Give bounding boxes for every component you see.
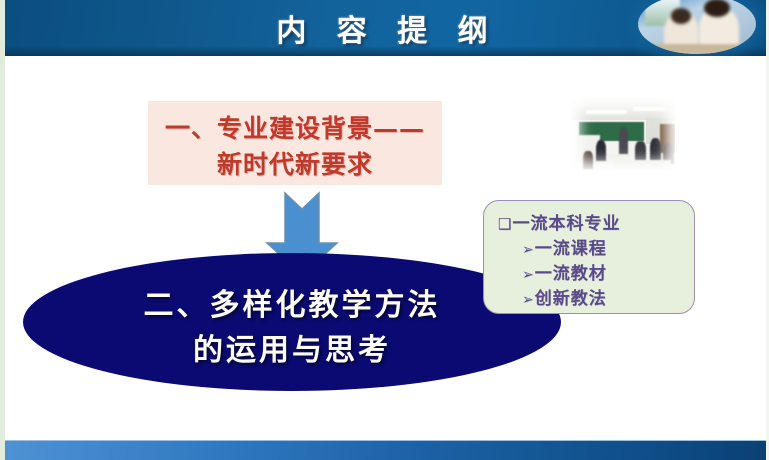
slide-footer-bar <box>0 440 769 460</box>
slide-header-bar: 内 容 提 纲 <box>0 0 769 56</box>
square-bullet-icon: ❑ <box>498 215 512 233</box>
page-title: 内 容 提 纲 <box>0 6 769 50</box>
section-one-line2: 新时代新要求 <box>148 145 442 181</box>
callout-item-2: ➢一流教材 <box>522 259 607 284</box>
section-two-line2: 的运用与思考 <box>23 325 561 369</box>
callout-box: ❑一流本科专业 ➢一流课程 ➢一流教材 ➢创新教法 <box>483 200 695 314</box>
section-two-line1: 二、多样化教学方法 <box>23 280 561 324</box>
callout-item-2-label: 一流教材 <box>535 264 607 284</box>
callout-item-1-label: 一流课程 <box>535 239 607 259</box>
arrow-bullet-icon: ➢ <box>522 242 535 258</box>
arrow-bullet-icon: ➢ <box>522 267 535 283</box>
callout-item-0: ❑一流本科专业 <box>498 209 620 234</box>
callout-item-0-label: 一流本科专业 <box>512 214 620 234</box>
section-one-box: 一、专业建设背景—— 新时代新要求 <box>148 101 442 185</box>
classroom-photo <box>571 98 675 170</box>
section-two-ellipse: 二、多样化教学方法 的运用与思考 <box>23 253 561 391</box>
section-one-line1: 一、专业建设背景—— <box>148 109 442 145</box>
callout-item-3-label: 创新教法 <box>535 289 607 309</box>
callout-item-3: ➢创新教法 <box>522 284 607 309</box>
callout-item-1: ➢一流课程 <box>522 234 607 259</box>
presentation-slide: 内 容 提 纲 一、专业建设背景—— 新时代新要求 <box>0 0 769 460</box>
arrow-bullet-icon: ➢ <box>522 292 535 308</box>
